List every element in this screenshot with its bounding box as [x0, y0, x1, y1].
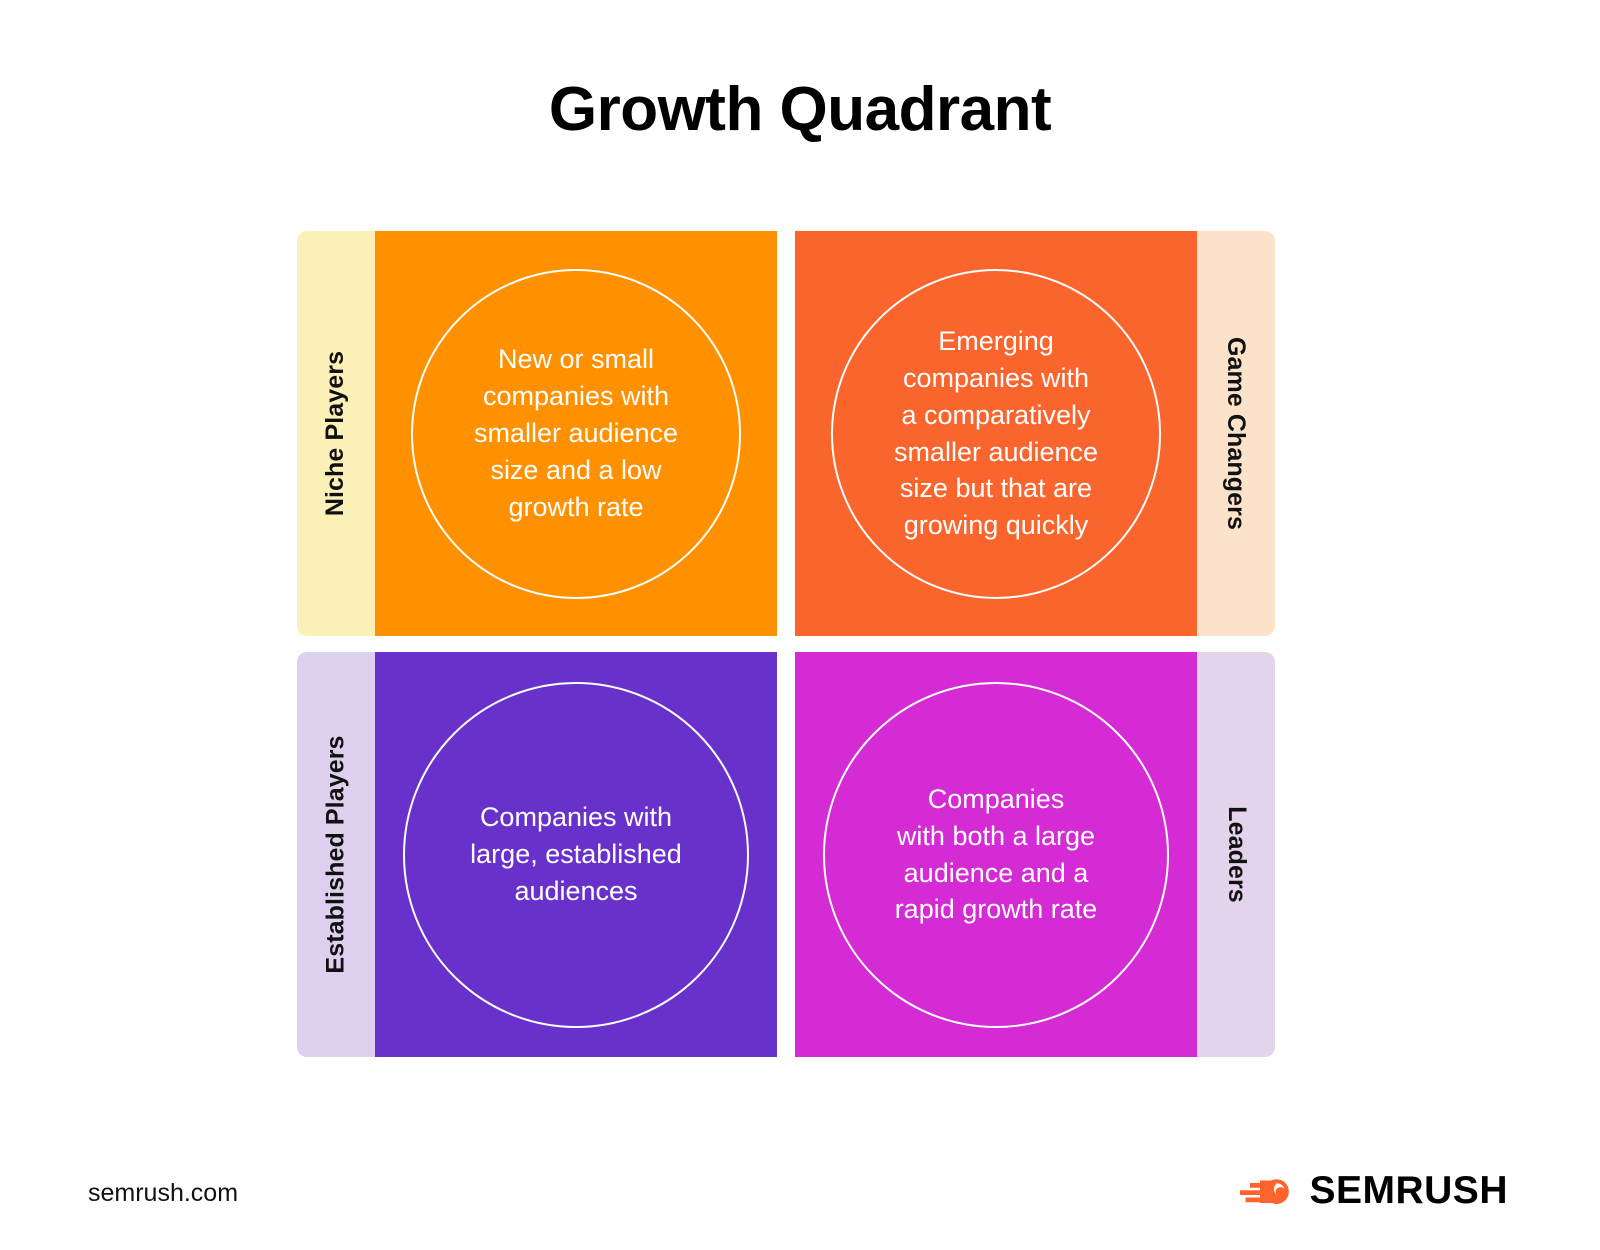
- quadrant-text-niche-players: New or small companies with smaller audi…: [460, 341, 692, 526]
- semrush-comet-icon: [1238, 1172, 1296, 1210]
- quadrant-established-players[interactable]: Established Players Companies with large…: [297, 652, 777, 1057]
- axis-label-leaders: Leaders: [1222, 806, 1251, 903]
- axis-label-established-players: Established Players: [322, 735, 351, 973]
- quadrant-text-game-changers: Emerging companies with a comparatively …: [880, 323, 1112, 545]
- growth-quadrant-infographic: Growth Quadrant Niche Players New or sma…: [0, 0, 1600, 1250]
- axis-strip-established-players: Established Players: [297, 652, 375, 1057]
- quadrant-niche-players[interactable]: Niche Players New or small companies wit…: [297, 231, 777, 636]
- axis-label-game-changers: Game Changers: [1222, 337, 1251, 530]
- axis-strip-niche-players: Niche Players: [297, 231, 375, 636]
- quadrant-body-established-players: Companies with large, established audien…: [375, 652, 777, 1057]
- quadrant-text-leaders: Companies with both a large audience and…: [881, 781, 1112, 929]
- page-title: Growth Quadrant: [0, 76, 1600, 144]
- quadrant-body-game-changers: Emerging companies with a comparatively …: [795, 231, 1197, 636]
- quadrant-game-changers[interactable]: Emerging companies with a comparatively …: [795, 231, 1275, 636]
- semrush-logo: SEMRUSH: [1238, 1171, 1508, 1210]
- quadrant-text-established-players: Companies with large, established audien…: [456, 799, 696, 910]
- axis-strip-leaders: Leaders: [1197, 652, 1275, 1057]
- quadrant-leaders[interactable]: Companies with both a large audience and…: [795, 652, 1275, 1057]
- axis-label-niche-players: Niche Players: [322, 351, 351, 516]
- semrush-wordmark: SEMRUSH: [1309, 1171, 1508, 1210]
- quadrant-body-leaders: Companies with both a large audience and…: [795, 652, 1197, 1057]
- axis-strip-game-changers: Game Changers: [1197, 231, 1275, 636]
- footer-source-url: semrush.com: [88, 1179, 238, 1208]
- quadrant-matrix: Niche Players New or small companies wit…: [297, 231, 1275, 1057]
- quadrant-body-niche-players: New or small companies with smaller audi…: [375, 231, 777, 636]
